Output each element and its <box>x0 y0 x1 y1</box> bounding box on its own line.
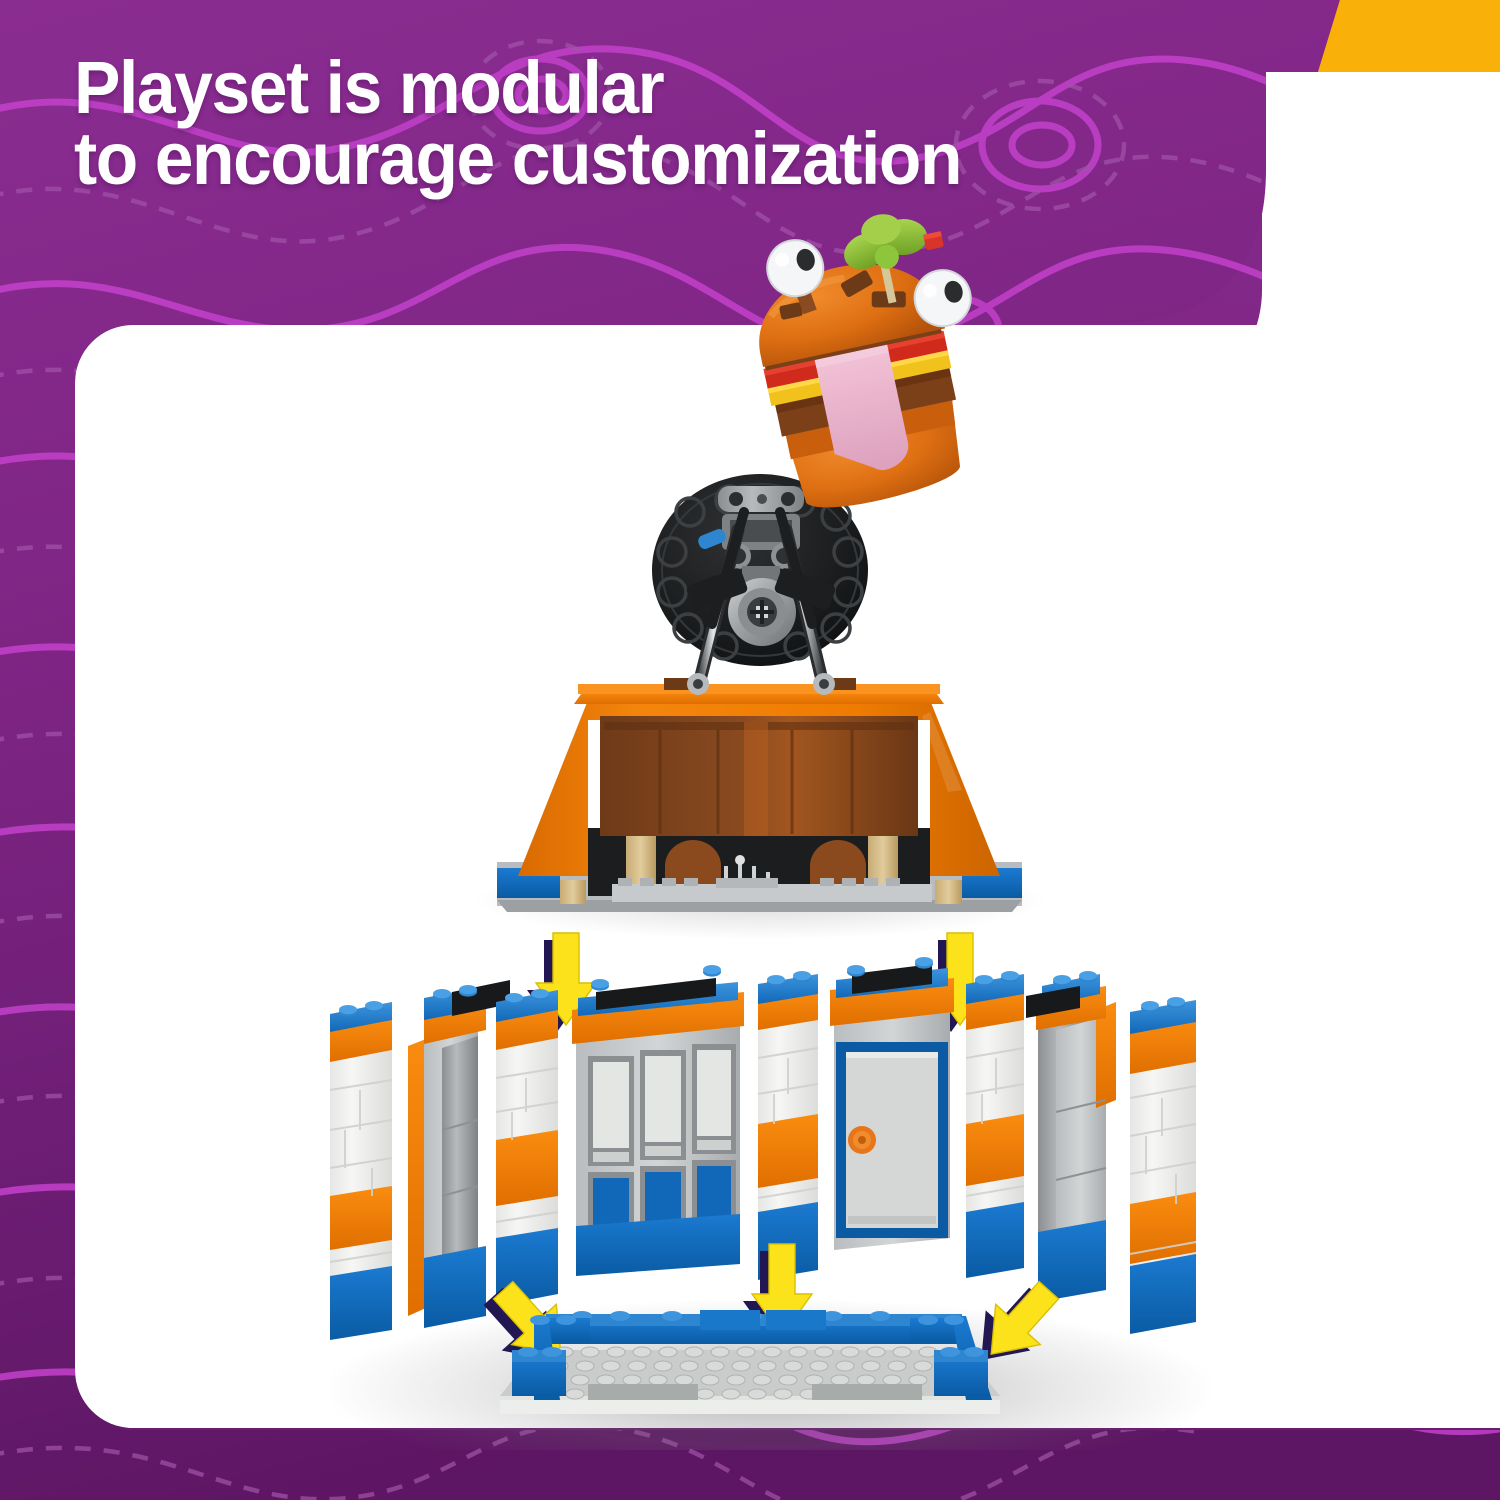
wall-panel-3 <box>496 989 558 1306</box>
black-turntable-dish <box>652 474 868 695</box>
wall-panel-9 <box>1130 997 1196 1334</box>
burger-monster-head <box>737 199 1008 518</box>
burger-monster-roof-module <box>497 678 1022 912</box>
wall-panel-7 <box>966 971 1024 1278</box>
wall-panel-4 <box>572 965 744 1276</box>
lego-assembly-illustration <box>0 0 1500 1500</box>
wall-panel-2 <box>408 980 510 1328</box>
wall-panel-5 <box>758 971 818 1280</box>
product-feature-image: Playset is modular to encourage customiz… <box>0 0 1500 1500</box>
wall-panel-8 <box>1026 971 1116 1302</box>
wall-panel-6 <box>830 957 954 1250</box>
wall-panel-1 <box>330 1001 392 1340</box>
grey-baseplate-with-blue-trim <box>500 1310 1000 1414</box>
